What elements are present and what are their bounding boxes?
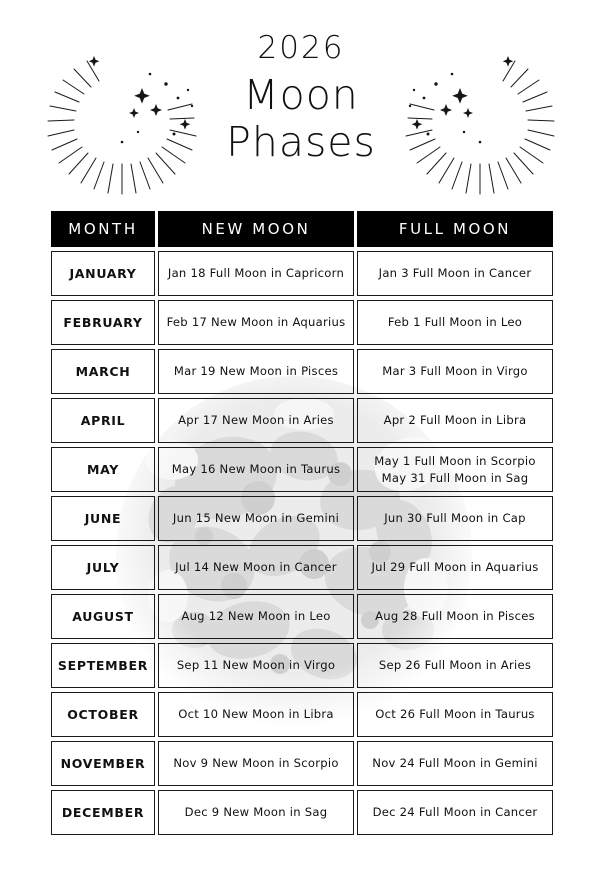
phase-line: Sep 11 New Moon in Virgo: [163, 657, 349, 674]
column-header-month: MONTH: [51, 211, 155, 247]
phase-line: Apr 2 Full Moon in Libra: [362, 412, 548, 429]
table-row: MARCHMar 19 New Moon in PiscesMar 3 Full…: [51, 349, 553, 394]
phase-line: Nov 9 New Moon in Scorpio: [163, 755, 349, 772]
column-header-new-moon: NEW MOON: [158, 211, 354, 247]
moon-phases-table: MONTH NEW MOON FULL MOON JANUARYJan 18 F…: [48, 207, 556, 839]
new-moon-cell: Jan 18 Full Moon in Capricorn: [158, 251, 354, 296]
table-row: FEBRUARYFeb 17 New Moon in AquariusFeb 1…: [51, 300, 553, 345]
month-cell: NOVEMBER: [51, 741, 155, 786]
table-row: APRILApr 17 New Moon in AriesApr 2 Full …: [51, 398, 553, 443]
phase-line: Apr 17 New Moon in Aries: [163, 412, 349, 429]
phase-line: Oct 26 Full Moon in Taurus: [362, 706, 548, 723]
table-row: JULYJul 14 New Moon in CancerJul 29 Full…: [51, 545, 553, 590]
phase-line: Sep 26 Full Moon in Aries: [362, 657, 548, 674]
new-moon-cell: Oct 10 New Moon in Libra: [158, 692, 354, 737]
new-moon-cell: May 16 New Moon in Taurus: [158, 447, 354, 492]
new-moon-cell: Aug 12 New Moon in Leo: [158, 594, 354, 639]
phase-line: Jun 15 New Moon in Gemini: [163, 510, 349, 527]
phase-line: Feb 17 New Moon in Aquarius: [163, 314, 349, 331]
new-moon-cell: Dec 9 New Moon in Sag: [158, 790, 354, 835]
phase-line: Oct 10 New Moon in Libra: [163, 706, 349, 723]
full-moon-cell: Dec 24 Full Moon in Cancer: [357, 790, 553, 835]
phase-line: Nov 24 Full Moon in Gemini: [362, 755, 548, 772]
table-row: SEPTEMBERSep 11 New Moon in VirgoSep 26 …: [51, 643, 553, 688]
full-moon-cell: Mar 3 Full Moon in Virgo: [357, 349, 553, 394]
new-moon-cell: Jun 15 New Moon in Gemini: [158, 496, 354, 541]
new-moon-cell: Mar 19 New Moon in Pisces: [158, 349, 354, 394]
month-cell: FEBRUARY: [51, 300, 155, 345]
phase-line: Jul 29 Full Moon in Aquarius: [362, 559, 548, 576]
phase-line: Aug 12 New Moon in Leo: [163, 608, 349, 625]
phase-line: May 31 Full Moon in Sag: [362, 470, 548, 487]
table-body: JANUARYJan 18 Full Moon in CapricornJan …: [51, 251, 553, 835]
moon-phases-poster: 2026 Moon Phases: [0, 0, 601, 888]
phase-line: Dec 9 New Moon in Sag: [163, 804, 349, 821]
full-moon-cell: Jan 3 Full Moon in Cancer: [357, 251, 553, 296]
month-cell: MAY: [51, 447, 155, 492]
page-title-line-2: Phases: [176, 119, 426, 166]
full-moon-cell: Apr 2 Full Moon in Libra: [357, 398, 553, 443]
table-row: NOVEMBERNov 9 New Moon in ScorpioNov 24 …: [51, 741, 553, 786]
phase-line: Aug 28 Full Moon in Pisces: [362, 608, 548, 625]
full-moon-cell: Jun 30 Full Moon in Cap: [357, 496, 553, 541]
crescent-moon-rays-right-icon: [392, 46, 560, 208]
phase-line: Jan 3 Full Moon in Cancer: [362, 265, 548, 282]
phase-line: Jan 18 Full Moon in Capricorn: [163, 265, 349, 282]
phase-line: Feb 1 Full Moon in Leo: [362, 314, 548, 331]
table-row: JANUARYJan 18 Full Moon in CapricornJan …: [51, 251, 553, 296]
table-row: DECEMBERDec 9 New Moon in SagDec 24 Full…: [51, 790, 553, 835]
phase-line: Mar 19 New Moon in Pisces: [163, 363, 349, 380]
phase-line: Jul 14 New Moon in Cancer: [163, 559, 349, 576]
month-cell: OCTOBER: [51, 692, 155, 737]
new-moon-cell: Apr 17 New Moon in Aries: [158, 398, 354, 443]
table-row: MAYMay 16 New Moon in TaurusMay 1 Full M…: [51, 447, 553, 492]
month-cell: SEPTEMBER: [51, 643, 155, 688]
new-moon-cell: Nov 9 New Moon in Scorpio: [158, 741, 354, 786]
poster-header: 2026 Moon Phases: [0, 18, 601, 200]
column-header-full-moon: FULL MOON: [357, 211, 553, 247]
new-moon-cell: Sep 11 New Moon in Virgo: [158, 643, 354, 688]
new-moon-cell: Jul 14 New Moon in Cancer: [158, 545, 354, 590]
table-row: OCTOBEROct 10 New Moon in LibraOct 26 Fu…: [51, 692, 553, 737]
month-cell: AUGUST: [51, 594, 155, 639]
month-cell: JANUARY: [51, 251, 155, 296]
full-moon-cell: Feb 1 Full Moon in Leo: [357, 300, 553, 345]
full-moon-cell: Sep 26 Full Moon in Aries: [357, 643, 553, 688]
table-header-row: MONTH NEW MOON FULL MOON: [51, 211, 553, 247]
month-cell: MARCH: [51, 349, 155, 394]
new-moon-cell: Feb 17 New Moon in Aquarius: [158, 300, 354, 345]
month-cell: APRIL: [51, 398, 155, 443]
table-row: JUNEJun 15 New Moon in GeminiJun 30 Full…: [51, 496, 553, 541]
phase-line: May 16 New Moon in Taurus: [163, 461, 349, 478]
full-moon-cell: Oct 26 Full Moon in Taurus: [357, 692, 553, 737]
phase-line: Mar 3 Full Moon in Virgo: [362, 363, 548, 380]
title-block: 2026 Moon Phases: [176, 30, 426, 166]
full-moon-cell: Nov 24 Full Moon in Gemini: [357, 741, 553, 786]
month-cell: JUNE: [51, 496, 155, 541]
page-title-line-1: Moon: [176, 72, 426, 119]
month-cell: DECEMBER: [51, 790, 155, 835]
month-cell: JULY: [51, 545, 155, 590]
full-moon-cell: May 1 Full Moon in ScorpioMay 31 Full Mo…: [357, 447, 553, 492]
phase-line: Dec 24 Full Moon in Cancer: [362, 804, 548, 821]
table-row: AUGUSTAug 12 New Moon in LeoAug 28 Full …: [51, 594, 553, 639]
phase-line: Jun 30 Full Moon in Cap: [362, 510, 548, 527]
full-moon-cell: Jul 29 Full Moon in Aquarius: [357, 545, 553, 590]
year-label: 2026: [176, 30, 426, 66]
phase-line: May 1 Full Moon in Scorpio: [362, 453, 548, 470]
full-moon-cell: Aug 28 Full Moon in Pisces: [357, 594, 553, 639]
